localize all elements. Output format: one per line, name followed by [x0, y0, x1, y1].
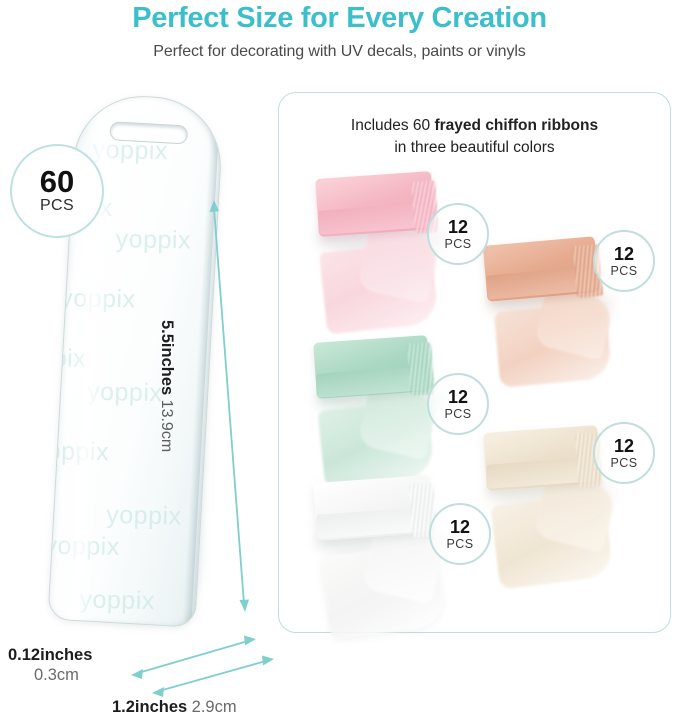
ribbons-heading-line2: in three beautiful colors: [279, 137, 670, 159]
header: Perfect Size for Every Creation Perfect …: [0, 0, 679, 61]
thickness-metric: 0.3cm: [34, 666, 92, 685]
peach-chiffon-ribbon: 12 PCS: [469, 235, 669, 395]
white-chiffon-ribbon: 12 PCS: [301, 475, 501, 635]
pink-chiffon-ribbon: 12 PCS: [301, 171, 491, 331]
ribbons-heading: Includes 60 frayed chiffon ribbons in th…: [279, 115, 670, 159]
badge-unit: PCS: [447, 537, 474, 551]
quantity-badge-12: 12 PCS: [427, 373, 489, 435]
badge-unit: PCS: [40, 197, 74, 215]
bookmark-dimension-panel: yoppix yoppix yoppix yoppix yoppix yoppi…: [0, 80, 275, 648]
watermark-text: yoppix: [115, 225, 191, 256]
thickness-dimension-label: 0.12inches 0.3cm: [8, 646, 92, 685]
badge-unit: PCS: [445, 407, 472, 421]
badge-count: 60: [40, 167, 74, 197]
badge-count: 12: [614, 245, 634, 263]
watermark-text: yoppix: [60, 284, 136, 315]
badge-count: 12: [450, 518, 470, 536]
badge-unit: PCS: [611, 264, 638, 278]
height-imperial: 5.5inches: [158, 320, 176, 395]
badge-count: 12: [448, 388, 468, 406]
ribbons-heading-bold: frayed chiffon ribbons: [434, 117, 598, 134]
width-metric: 2.9cm: [192, 698, 237, 716]
badge-unit: PCS: [611, 456, 638, 470]
page-title: Perfect Size for Every Creation: [0, 0, 679, 33]
watermark-text: yoppix: [79, 586, 155, 617]
watermark-text: yoppix: [106, 501, 182, 532]
mint-chiffon-ribbon: 12 PCS: [301, 335, 491, 485]
thickness-imperial: 0.12inches: [8, 646, 92, 665]
quantity-badge-12: 12 PCS: [429, 503, 491, 565]
width-dimension-label: 1.2inches 2.9cm: [112, 698, 237, 717]
height-dimension-label: 5.5inches 13.9cm: [157, 320, 176, 452]
badge-count: 12: [448, 218, 468, 236]
height-dimension-arrow: [200, 198, 260, 614]
ribbons-heading-line1: Includes 60 frayed chiffon ribbons: [279, 115, 670, 137]
quantity-badge-12: 12 PCS: [593, 422, 655, 484]
page-subtitle: Perfect for decorating with UV decals, p…: [0, 33, 679, 61]
ribbons-panel: Includes 60 frayed chiffon ribbons in th…: [278, 92, 671, 633]
product-infographic: Perfect Size for Every Creation Perfect …: [0, 0, 679, 648]
badge-count: 12: [614, 437, 634, 455]
quantity-badge-12: 12 PCS: [427, 203, 489, 265]
height-metric: 13.9cm: [158, 400, 175, 452]
watermark-text: yoppix: [48, 343, 86, 374]
watermark-text: yoppix: [87, 378, 163, 409]
quantity-badge-12: 12 PCS: [593, 230, 655, 292]
quantity-badge-60: 60 PCS: [10, 144, 104, 238]
width-dimension-arrow: [150, 649, 276, 705]
badge-unit: PCS: [445, 237, 472, 251]
watermark-text: yoppix: [48, 531, 120, 562]
watermark-text: yoppix: [48, 437, 109, 468]
ribbons-heading-prefix: Includes 60: [351, 117, 435, 134]
width-imperial: 1.2inches: [112, 698, 187, 716]
